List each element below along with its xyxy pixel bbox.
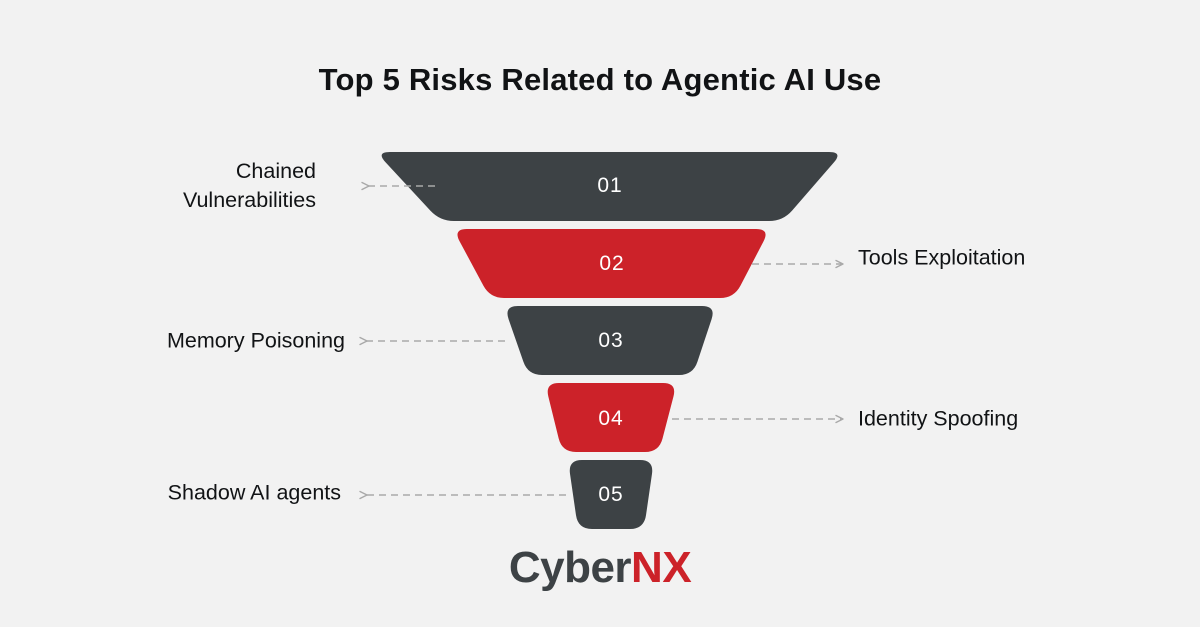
brand-logo: CyberNX [0, 543, 1200, 593]
funnel-risk-label-02: Tools Exploitation [858, 244, 1025, 273]
funnel-risk-label-01: Chained Vulnerabilities [183, 157, 316, 215]
funnel-risk-label-05: Shadow AI agents [168, 479, 341, 508]
logo-primary-text: Cyber [509, 543, 631, 592]
funnel-risk-label-03: Memory Poisoning [167, 327, 345, 356]
infographic-canvas: Top 5 Risks Related to Agentic AI Use 01… [0, 0, 1200, 627]
funnel-segment-number-02: 02 [599, 252, 624, 276]
logo-accent-text: NX [631, 543, 691, 592]
funnel-risk-label-04: Identity Spoofing [858, 405, 1018, 434]
funnel-segment-number-01: 01 [597, 174, 622, 198]
funnel-segment-number-03: 03 [598, 329, 623, 353]
funnel-segment-number-04: 04 [598, 407, 623, 431]
page-title: Top 5 Risks Related to Agentic AI Use [0, 62, 1200, 98]
funnel-segment-number-05: 05 [598, 483, 623, 507]
